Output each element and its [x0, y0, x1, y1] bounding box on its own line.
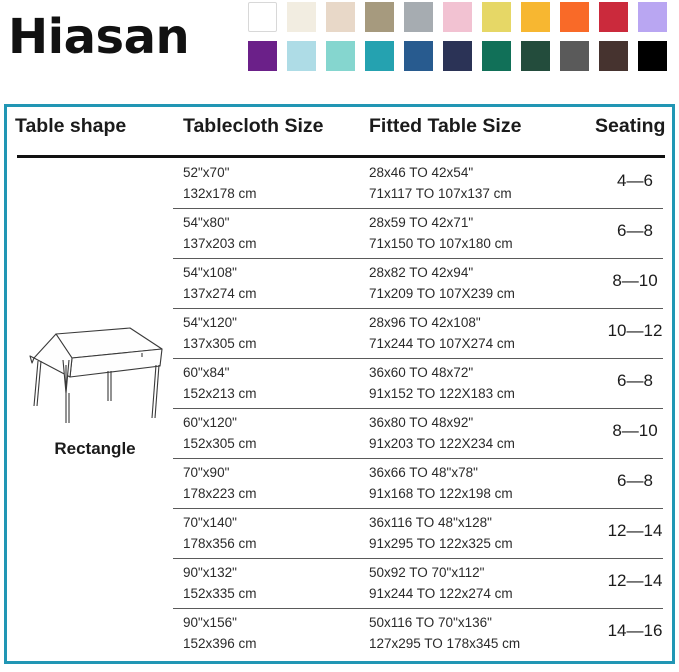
- tablecloth-size-inches: 60"x120": [183, 415, 237, 430]
- tablecloth-size-inches: 54"x80": [183, 215, 229, 230]
- cell-fitted-table-size: 28x46 TO 42x54"71x117 TO 107x137 cm: [369, 162, 595, 204]
- fitted-size-cm: 91x203 TO 122X234 cm: [369, 433, 595, 454]
- tablecloth-size-inches: 70"x90": [183, 465, 229, 480]
- color-swatch-gray[interactable]: [404, 2, 433, 32]
- fitted-size-cm: 91x152 TO 122X183 cm: [369, 383, 595, 404]
- tablecloth-size-cm: 152x213 cm: [183, 383, 367, 404]
- tablecloth-size-cm: 132x178 cm: [183, 183, 367, 204]
- tablecloth-size-inches: 70"x140": [183, 515, 237, 530]
- tablecloth-size-cm: 152x335 cm: [183, 583, 367, 604]
- table-row: 90"x156"152x396 cm50x116 TO 70"x136"127x…: [7, 608, 672, 658]
- tablecloth-size-inches: 54"x108": [183, 265, 237, 280]
- cell-fitted-table-size: 36x66 TO 48"x78"91x168 TO 122x198 cm: [369, 462, 595, 504]
- cell-seating: 6—8: [595, 371, 675, 391]
- color-swatch-taupe[interactable]: [365, 2, 394, 32]
- color-swatch-navy[interactable]: [443, 41, 472, 71]
- cell-seating: 4—6: [595, 171, 675, 191]
- table-row: 70"x140"178x356 cm36x116 TO 48"x128"91x2…: [7, 508, 672, 558]
- fitted-size-cm: 71x209 TO 107X239 cm: [369, 283, 595, 304]
- fitted-size-inches: 36x60 TO 48x72": [369, 365, 473, 380]
- tablecloth-size-inches: 90"x132": [183, 565, 237, 580]
- cell-tablecloth-size: 54"x120"137x305 cm: [183, 312, 367, 354]
- color-swatch-purple[interactable]: [248, 41, 277, 71]
- cell-fitted-table-size: 28x59 TO 42x71"71x150 TO 107x180 cm: [369, 212, 595, 254]
- table-row: 90"x132"152x335 cm50x92 TO 70"x112"91x24…: [7, 558, 672, 608]
- cell-tablecloth-size: 90"x132"152x335 cm: [183, 562, 367, 604]
- color-swatch-gold[interactable]: [521, 2, 550, 32]
- fitted-size-inches: 28x82 TO 42x94": [369, 265, 473, 280]
- cell-seating: 14—16: [595, 621, 675, 641]
- fitted-size-cm: 91x295 TO 122x325 cm: [369, 533, 595, 554]
- fitted-size-cm: 91x168 TO 122x198 cm: [369, 483, 595, 504]
- cell-seating: 12—14: [595, 571, 675, 591]
- table-row: 52"x70"132x178 cm28x46 TO 42x54"71x117 T…: [7, 158, 672, 208]
- fitted-size-cm: 71x117 TO 107x137 cm: [369, 183, 595, 204]
- tablecloth-size-inches: 52"x70": [183, 165, 229, 180]
- color-swatch-white[interactable]: [248, 2, 277, 32]
- table-row: 54"x108"137x274 cm28x82 TO 42x94"71x209 …: [7, 258, 672, 308]
- cell-tablecloth-size: 70"x140"178x356 cm: [183, 512, 367, 554]
- table-shape-cell: Rectangle: [13, 313, 177, 459]
- cell-seating: 8—10: [595, 421, 675, 441]
- table-header-row: Table shape Tablecloth Size Fitted Table…: [7, 107, 672, 157]
- cell-tablecloth-size: 70"x90"178x223 cm: [183, 462, 367, 504]
- table-shape-label: Rectangle: [13, 439, 177, 459]
- color-swatch-beige[interactable]: [326, 2, 355, 32]
- cell-tablecloth-size: 52"x70"132x178 cm: [183, 162, 367, 204]
- cell-fitted-table-size: 36x116 TO 48"x128"91x295 TO 122x325 cm: [369, 512, 595, 554]
- rectangle-table-illustration: [20, 313, 170, 431]
- fitted-size-cm: 127x295 TO 178x345 cm: [369, 633, 595, 654]
- fitted-size-inches: 36x116 TO 48"x128": [369, 515, 492, 530]
- size-chart-table: Table shape Tablecloth Size Fitted Table…: [4, 104, 675, 664]
- tablecloth-size-cm: 137x305 cm: [183, 333, 367, 354]
- tablecloth-size-inches: 54"x120": [183, 315, 237, 330]
- cell-fitted-table-size: 50x116 TO 70"x136"127x295 TO 178x345 cm: [369, 612, 595, 654]
- color-swatch-lavender[interactable]: [638, 2, 667, 32]
- fitted-size-cm: 71x150 TO 107x180 cm: [369, 233, 595, 254]
- cell-fitted-table-size: 28x82 TO 42x94"71x209 TO 107X239 cm: [369, 262, 595, 304]
- brand-header: Hiasan: [0, 0, 679, 95]
- fitted-size-inches: 50x92 TO 70"x112": [369, 565, 484, 580]
- color-swatch-forest-green[interactable]: [521, 41, 550, 71]
- cell-fitted-table-size: 36x80 TO 48x92"91x203 TO 122X234 cm: [369, 412, 595, 454]
- cell-seating: 8—10: [595, 271, 675, 291]
- tablecloth-size-cm: 152x305 cm: [183, 433, 367, 454]
- color-swatch-emerald[interactable]: [482, 41, 511, 71]
- cell-fitted-table-size: 50x92 TO 70"x112"91x244 TO 122x274 cm: [369, 562, 595, 604]
- cell-tablecloth-size: 54"x108"137x274 cm: [183, 262, 367, 304]
- tablecloth-size-inches: 90"x156": [183, 615, 237, 630]
- color-swatch-ivory[interactable]: [287, 2, 316, 32]
- column-header-seating: Seating: [595, 115, 675, 138]
- tablecloth-size-cm: 152x396 cm: [183, 633, 367, 654]
- swatch-row-top: [248, 2, 676, 32]
- cell-tablecloth-size: 90"x156"152x396 cm: [183, 612, 367, 654]
- color-swatch-dark-brown[interactable]: [599, 41, 628, 71]
- column-header-table-shape: Table shape: [15, 115, 177, 138]
- fitted-size-inches: 36x80 TO 48x92": [369, 415, 473, 430]
- fitted-size-inches: 28x59 TO 42x71": [369, 215, 473, 230]
- tablecloth-size-inches: 60"x84": [183, 365, 229, 380]
- color-swatch-teal[interactable]: [365, 41, 394, 71]
- fitted-size-inches: 36x66 TO 48"x78": [369, 465, 478, 480]
- cell-tablecloth-size: 60"x84"152x213 cm: [183, 362, 367, 404]
- table-row: 54"x80"137x203 cm28x59 TO 42x71"71x150 T…: [7, 208, 672, 258]
- fitted-size-inches: 28x96 TO 42x108": [369, 315, 481, 330]
- cell-fitted-table-size: 36x60 TO 48x72"91x152 TO 122X183 cm: [369, 362, 595, 404]
- color-swatch-panel: [248, 2, 676, 80]
- swatch-row-bottom: [248, 41, 676, 71]
- column-header-fitted-table-size: Fitted Table Size: [369, 115, 595, 138]
- color-swatch-yellow[interactable]: [482, 2, 511, 32]
- fitted-size-inches: 50x116 TO 70"x136": [369, 615, 492, 630]
- brand-logo: Hiasan: [8, 8, 189, 66]
- tablecloth-size-cm: 178x356 cm: [183, 533, 367, 554]
- color-swatch-aqua[interactable]: [326, 41, 355, 71]
- cell-fitted-table-size: 28x96 TO 42x108"71x244 TO 107X274 cm: [369, 312, 595, 354]
- color-swatch-orange[interactable]: [560, 2, 589, 32]
- color-swatch-pink[interactable]: [443, 2, 472, 32]
- fitted-size-cm: 91x244 TO 122x274 cm: [369, 583, 595, 604]
- tablecloth-size-cm: 137x203 cm: [183, 233, 367, 254]
- color-swatch-black[interactable]: [638, 41, 667, 71]
- cell-seating: 10—12: [595, 321, 675, 341]
- fitted-size-inches: 28x46 TO 42x54": [369, 165, 473, 180]
- cell-seating: 6—8: [595, 221, 675, 241]
- color-swatch-denim-blue[interactable]: [404, 41, 433, 71]
- cell-tablecloth-size: 60"x120"152x305 cm: [183, 412, 367, 454]
- cell-seating: 6—8: [595, 471, 675, 491]
- color-swatch-charcoal-gray[interactable]: [560, 41, 589, 71]
- color-swatch-red[interactable]: [599, 2, 628, 32]
- color-swatch-light-blue[interactable]: [287, 41, 316, 71]
- tablecloth-size-cm: 178x223 cm: [183, 483, 367, 504]
- cell-seating: 12—14: [595, 521, 675, 541]
- fitted-size-cm: 71x244 TO 107X274 cm: [369, 333, 595, 354]
- table-row: 70"x90"178x223 cm36x66 TO 48"x78"91x168 …: [7, 458, 672, 508]
- cell-tablecloth-size: 54"x80"137x203 cm: [183, 212, 367, 254]
- tablecloth-size-cm: 137x274 cm: [183, 283, 367, 304]
- column-header-tablecloth-size: Tablecloth Size: [183, 115, 367, 138]
